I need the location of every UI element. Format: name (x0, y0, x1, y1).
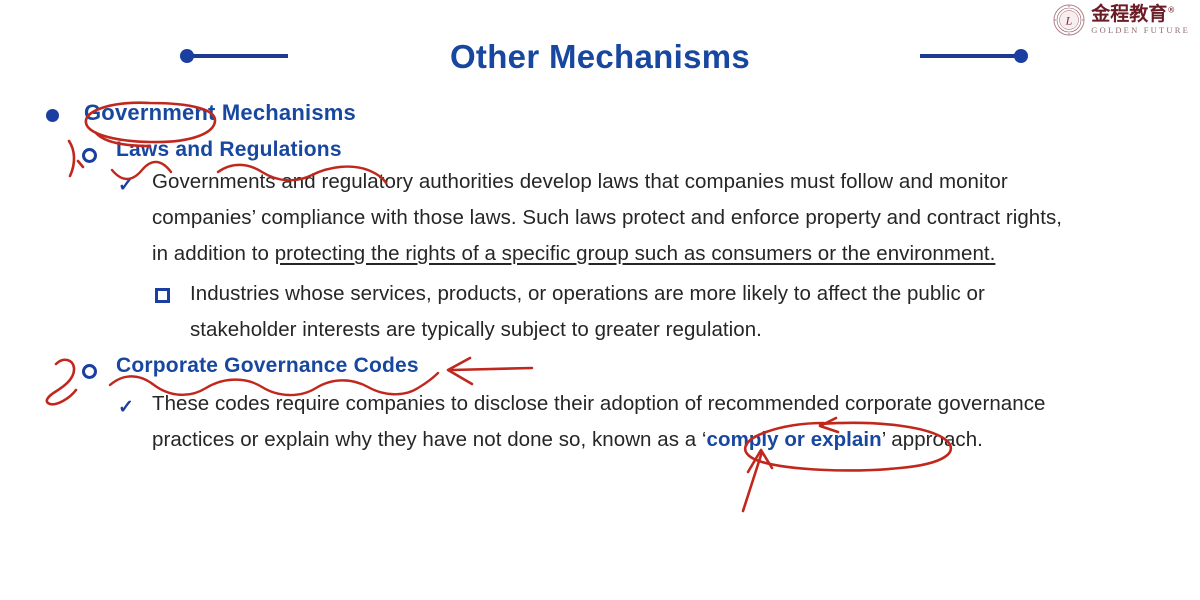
logo-chinese-name: 金程教育® (1091, 5, 1190, 24)
rule-dot (180, 49, 194, 63)
text-segment: ’ approach. (882, 428, 983, 451)
registered-mark: ® (1167, 6, 1175, 15)
text-line: Governments and regulatory authorities d… (152, 170, 1008, 193)
rule-bar (920, 54, 1020, 58)
slide-body: Government Mechanisms Laws and Regulatio… (0, 96, 1200, 174)
filled-circle-bullet-icon (46, 109, 59, 122)
outline-level1-government-mechanisms: Government Mechanisms (0, 96, 1200, 134)
logo-wordmark: 金程教育® GOLDEN FUTURE (1091, 5, 1190, 35)
bullet-item-text: Governments and regulatory authorities d… (152, 164, 1152, 272)
text-line: These codes require companies to disclos… (152, 392, 1045, 415)
seal-emblem-icon: L (1053, 4, 1085, 36)
keyword-comply-or-explain: comply or explain (707, 428, 882, 451)
check-bullet-icon: ✓ (118, 174, 134, 197)
brand-logo: L 金程教育® GOLDEN FUTURE (1053, 4, 1190, 36)
ring-circle-bullet-icon (82, 148, 97, 163)
outline-level1-label: Government Mechanisms (84, 100, 356, 126)
text-line: companies’ compliance with those laws. S… (152, 206, 1062, 229)
text-line-with-underline: in addition to protecting the rights of … (152, 242, 995, 265)
text-line-with-keyword: practices or explain why they have not d… (152, 428, 983, 451)
logo-english-name: GOLDEN FUTURE (1091, 26, 1190, 35)
text-line: Industries whose services, products, or … (190, 282, 985, 305)
section-heading-label: Corporate Governance Codes (116, 354, 419, 378)
section-heading-label: Laws and Regulations (116, 138, 342, 162)
bullet-item-text: Industries whose services, products, or … (190, 276, 1150, 348)
rule-bar (188, 54, 288, 58)
arrow-to-comply-or-explain-shaft (743, 452, 762, 511)
outline-section-corporate-governance-codes: Corporate Governance Codes (0, 354, 1200, 390)
hollow-square-bullet-icon (155, 288, 170, 303)
svg-text:L: L (1065, 14, 1073, 28)
rule-dot (1014, 49, 1028, 63)
underlined-phrase: protecting the rights of a specific grou… (275, 242, 996, 265)
check-bullet-icon: ✓ (118, 396, 134, 419)
slide-canvas: L 金程教育® GOLDEN FUTURE Other Mechanisms G… (0, 0, 1200, 600)
ring-circle-bullet-icon (82, 364, 97, 379)
title-rule-right (918, 48, 1028, 64)
bullet-item-text: These codes require companies to disclos… (152, 386, 1162, 458)
title-rule-left (180, 48, 290, 64)
text-line: stakeholder interests are typically subj… (190, 318, 762, 341)
text-segment: practices or explain why they have not d… (152, 428, 707, 451)
